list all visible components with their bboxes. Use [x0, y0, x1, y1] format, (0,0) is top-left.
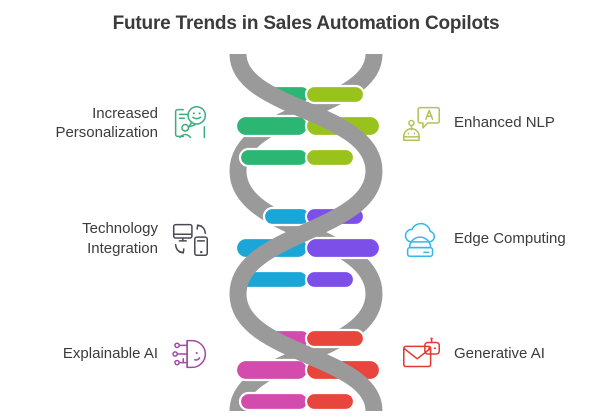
- helix-section-3: [236, 330, 380, 410]
- helix-section-1: [236, 86, 380, 166]
- trend-label-line1: Increased: [55, 104, 158, 123]
- trend-label: Technology Integration: [82, 219, 158, 257]
- robot-translate-icon: [399, 100, 445, 146]
- trend-label: Increased Personalization: [55, 104, 158, 142]
- trend-item-increased-personalization[interactable]: Increased Personalization: [8, 88, 213, 158]
- trend-item-technology-integration[interactable]: Technology Integration: [8, 204, 213, 274]
- page-title: Future Trends in Sales Automation Copilo…: [0, 13, 612, 35]
- trend-item-enhanced-nlp[interactable]: Enhanced NLP: [399, 88, 604, 158]
- left-label-column: Increased Personalization Technology In: [8, 58, 213, 413]
- trend-label-line2: Integration: [82, 239, 158, 258]
- trend-label-line2: Personalization: [55, 123, 158, 142]
- trend-label-line1: Technology: [82, 219, 158, 238]
- cloud-server-icon: [399, 216, 445, 262]
- trend-label-line1: Enhanced NLP: [454, 113, 555, 132]
- dna-double-helix-diagram: [206, 48, 406, 417]
- trend-item-explainable-ai[interactable]: Explainable AI: [8, 319, 213, 389]
- trend-label: Enhanced NLP: [454, 113, 555, 132]
- trend-label-line1: Generative AI: [454, 344, 545, 363]
- trend-item-edge-computing[interactable]: Edge Computing: [399, 204, 604, 274]
- robot-envelope-icon: [399, 331, 445, 377]
- trend-label: Explainable AI: [63, 344, 158, 363]
- trend-label: Generative AI: [454, 344, 545, 363]
- right-label-column: Enhanced NLP Edge Computing: [399, 58, 604, 413]
- helix-front-strand: [238, 54, 374, 411]
- trend-label-line1: Explainable AI: [63, 344, 158, 363]
- trend-item-generative-ai[interactable]: Generative AI: [399, 319, 604, 389]
- trend-label-line1: Edge Computing: [454, 229, 566, 248]
- trend-label: Edge Computing: [454, 229, 566, 248]
